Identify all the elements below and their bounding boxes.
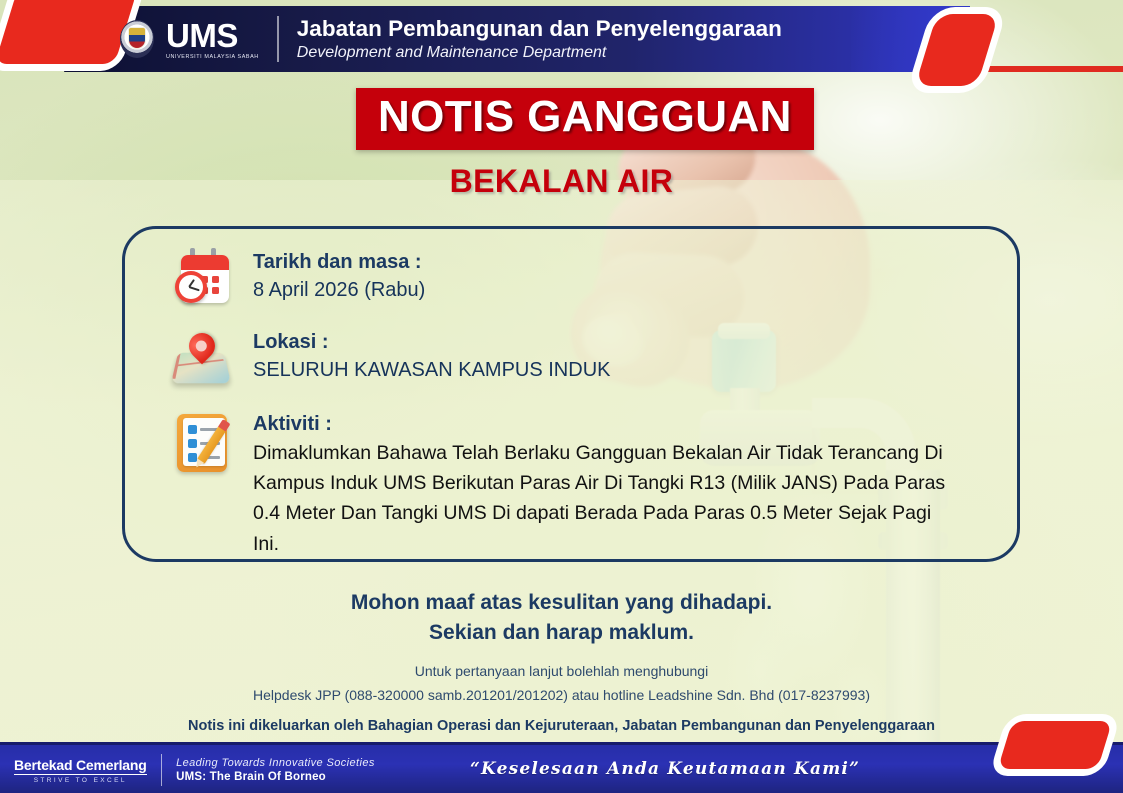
date-label: Tarikh dan masa :	[253, 249, 425, 276]
detail-text-date: Tarikh dan masa : 8 April 2026 (Rabu)	[253, 249, 425, 305]
red-accent-top-left	[0, 0, 137, 64]
contact-block: Untuk pertanyaan lanjut bolehlah menghub…	[0, 660, 1123, 708]
activity-label: Aktiviti :	[253, 411, 953, 438]
notice-title-text: NOTIS GANGGUAN	[378, 92, 792, 141]
footer-left-block: Bertekad Cemerlang STRIVE TO EXCEL Leadi…	[14, 750, 375, 790]
header-content: UMS UNIVERSITI MALAYSIA SABAH Jabatan Pe…	[120, 10, 782, 68]
contact-line-1: Untuk pertanyaan lanjut bolehlah menghub…	[0, 660, 1123, 684]
map-pin-icon	[173, 329, 235, 387]
clipboard-checklist-icon	[173, 411, 235, 559]
detail-row-date: Tarikh dan masa : 8 April 2026 (Rabu)	[173, 249, 425, 305]
notice-subtitle: BEKALAN AIR	[0, 163, 1123, 200]
activity-value: Dimaklumkan Bahawa Telah Berlaku Ganggua…	[253, 438, 953, 559]
apology-line-2: Sekian dan harap maklum.	[0, 618, 1123, 648]
footer-slogan-block: Leading Towards Innovative Societies UMS…	[176, 757, 375, 783]
detail-row-activity: Aktiviti : Dimaklumkan Bahawa Telah Berl…	[173, 411, 953, 559]
footer-divider	[161, 754, 163, 786]
ums-logo-text: UMS	[166, 19, 259, 52]
department-title-english: Development and Maintenance Department	[297, 43, 782, 62]
footer-tagline: “Keselesaan Anda Keutamaan Kami”	[470, 759, 860, 779]
red-rule-line	[966, 66, 1123, 72]
footer-motto: Bertekad Cemerlang STRIVE TO EXCEL	[14, 757, 147, 784]
ums-crest-icon	[120, 20, 154, 58]
footer-bar: Bertekad Cemerlang STRIVE TO EXCEL Leadi…	[0, 745, 1123, 793]
apology-block: Mohon maaf atas kesulitan yang dihadapi.…	[0, 588, 1123, 648]
detail-text-activity: Aktiviti : Dimaklumkan Bahawa Telah Berl…	[253, 411, 953, 559]
apology-line-1: Mohon maaf atas kesulitan yang dihadapi.	[0, 588, 1123, 618]
footer-slogan-line-2: UMS: The Brain Of Borneo	[176, 771, 375, 783]
footer-motto-sub: STRIVE TO EXCEL	[14, 777, 147, 784]
ums-logo-block: UMS UNIVERSITI MALAYSIA SABAH	[166, 19, 259, 60]
footer-motto-main: Bertekad Cemerlang	[14, 757, 147, 775]
footer-slogan-line-1: Leading Towards Innovative Societies	[176, 757, 375, 769]
department-title-malay: Jabatan Pembangunan dan Penyelenggaraan	[297, 16, 782, 41]
location-label: Lokasi :	[253, 329, 610, 356]
calendar-clock-icon	[173, 249, 235, 305]
date-value: 8 April 2026 (Rabu)	[253, 276, 425, 304]
notice-poster: UMS UNIVERSITI MALAYSIA SABAH Jabatan Pe…	[0, 0, 1123, 793]
red-accent-bottom-right	[998, 721, 1113, 769]
header-divider	[277, 16, 279, 62]
issued-by-text: Notis ini dikeluarkan oleh Bahagian Oper…	[0, 718, 1123, 734]
detail-row-location: Lokasi : SELURUH KAWASAN KAMPUS INDUK	[173, 329, 610, 387]
notice-title-banner: NOTIS GANGGUAN	[356, 88, 814, 150]
location-value: SELURUH KAWASAN KAMPUS INDUK	[253, 356, 610, 384]
detail-text-location: Lokasi : SELURUH KAWASAN KAMPUS INDUK	[253, 329, 610, 387]
ums-logo-subtitle: UNIVERSITI MALAYSIA SABAH	[166, 54, 259, 60]
details-card: Tarikh dan masa : 8 April 2026 (Rabu) Lo…	[122, 226, 1020, 562]
contact-line-2: Helpdesk JPP (088-320000 samb.201201/201…	[0, 684, 1123, 708]
department-titles: Jabatan Pembangunan dan Penyelenggaraan …	[297, 16, 782, 61]
